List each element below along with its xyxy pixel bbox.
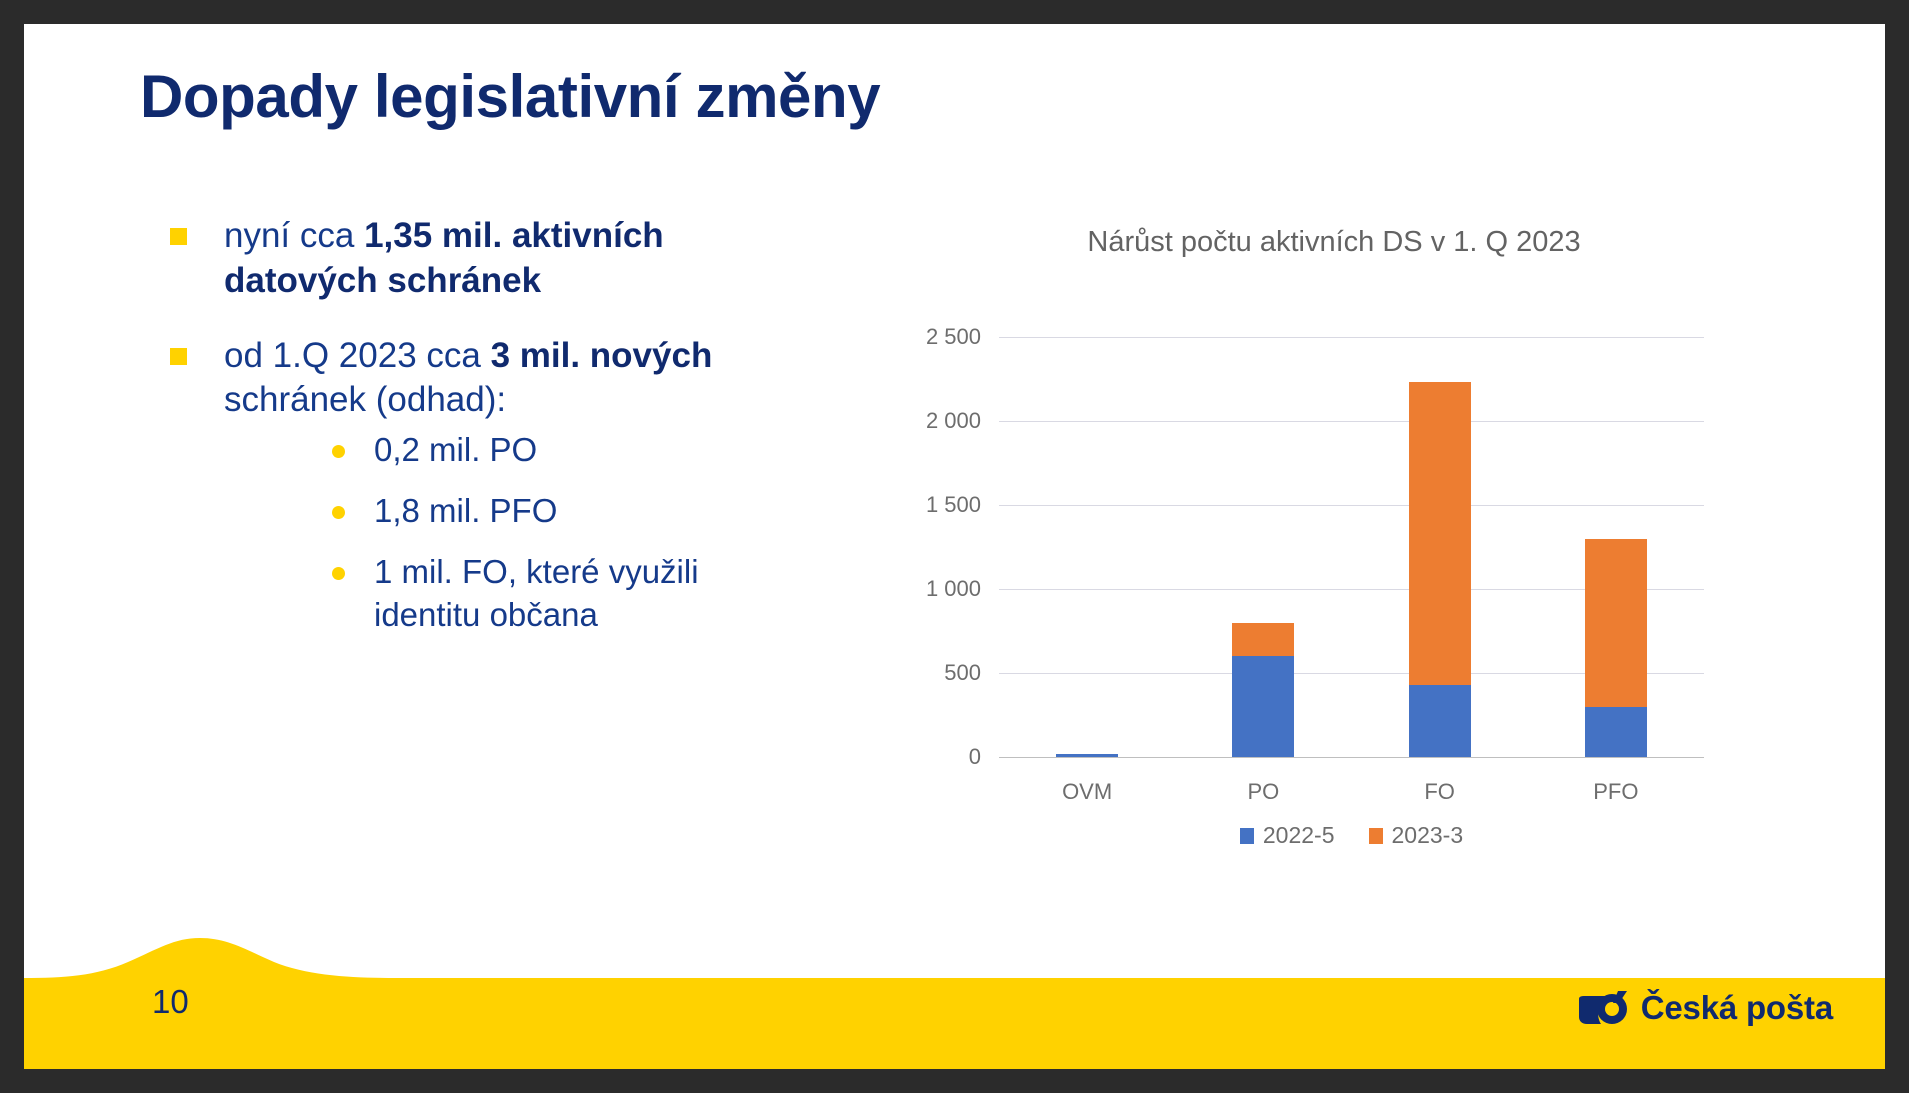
y-axis-tick-label: 1 500: [926, 492, 981, 518]
y-axis-tick-label: 2 000: [926, 408, 981, 434]
chart-bar[interactable]: PO: [1232, 623, 1294, 757]
bullet-list: nyní cca 1,35 mil. aktivních datových sc…: [142, 214, 762, 667]
bullet-text-post: schránek (odhad):: [224, 380, 506, 419]
list-item: 1,8 mil. PFO: [224, 490, 762, 533]
y-axis-tick-label: 2 500: [926, 324, 981, 350]
bullet-text-pre: nyní cca: [224, 216, 364, 255]
page-number: 10: [152, 983, 189, 1021]
slide-footer: 10 Česká pošta: [24, 934, 1885, 1069]
chart-title: Nárůst počtu aktivních DS v 1. Q 2023: [854, 226, 1814, 259]
list-item: 1 mil. FO, které využili identitu občana: [224, 551, 762, 637]
legend-swatch-icon: [1369, 828, 1383, 844]
list-item: 0,2 mil. PO: [224, 429, 762, 472]
chart-bar-segment-2023-3: [1585, 539, 1647, 707]
chart-bar-segment-2023-3: [1232, 623, 1294, 656]
square-bullet-icon: [170, 348, 187, 365]
bullet-text-bold: 3 mil. nových: [491, 336, 713, 375]
x-axis-tick-label: FO: [1409, 779, 1471, 805]
y-axis-tick-label: 0: [969, 744, 981, 770]
chart-gridline: 0: [999, 757, 1704, 758]
chart-gridline: 1 500: [999, 505, 1704, 506]
chart-bar-segment-2022-5: [1232, 656, 1294, 757]
brand-logo: Česká pošta: [1577, 989, 1833, 1027]
x-axis-tick-label: PO: [1232, 779, 1294, 805]
ceska-posta-logo-icon: [1577, 991, 1629, 1025]
dot-bullet-icon: [332, 567, 345, 580]
square-bullet-icon: [170, 228, 187, 245]
legend-label: 2023-3: [1392, 822, 1464, 849]
chart-bar[interactable]: PFO: [1585, 539, 1647, 757]
chart-bar-segment-2022-5: [1409, 685, 1471, 757]
chart: Nárůst počtu aktivních DS v 1. Q 2023 05…: [854, 202, 1814, 862]
dot-bullet-icon: [332, 445, 345, 458]
chart-legend-item[interactable]: 2022-5: [1240, 822, 1335, 849]
slide-background: Dopady legislativní změny nyní cca 1,35 …: [0, 0, 1909, 1093]
sub-bullet-label: 1 mil. FO, které využili identitu občana: [374, 553, 699, 633]
bullet-text-pre: od 1.Q 2023 cca: [224, 336, 491, 375]
chart-legend-item[interactable]: 2023-3: [1369, 822, 1464, 849]
list-item: nyní cca 1,35 mil. aktivních datových sc…: [142, 214, 762, 304]
x-axis-tick-label: PFO: [1585, 779, 1647, 805]
chart-bar-segment-2023-3: [1409, 382, 1471, 684]
chart-gridline: 2 000: [999, 421, 1704, 422]
chart-bar-segment-2022-5: [1056, 754, 1118, 757]
sub-bullet-label: 0,2 mil. PO: [374, 431, 537, 468]
sub-bullet-list: 0,2 mil. PO 1,8 mil. PFO 1 mil. FO, kter…: [224, 429, 762, 637]
page-title: Dopady legislativní změny: [140, 62, 880, 131]
sub-bullet-label: 1,8 mil. PFO: [374, 492, 557, 529]
list-item: od 1.Q 2023 cca 3 mil. nových schránek (…: [142, 334, 762, 637]
chart-bar[interactable]: OVM: [1056, 754, 1118, 757]
dot-bullet-icon: [332, 506, 345, 519]
legend-label: 2022-5: [1263, 822, 1335, 849]
chart-bar-segment-2022-5: [1585, 707, 1647, 757]
x-axis-tick-label: OVM: [1056, 779, 1118, 805]
legend-swatch-icon: [1240, 828, 1254, 844]
chart-bar[interactable]: FO: [1409, 382, 1471, 757]
chart-legend: 2022-52023-3: [999, 822, 1704, 849]
chart-gridline: 2 500: [999, 337, 1704, 338]
y-axis-tick-label: 1 000: [926, 576, 981, 602]
slide-canvas: Dopady legislativní změny nyní cca 1,35 …: [24, 24, 1885, 1069]
y-axis-tick-label: 500: [944, 660, 981, 686]
brand-name: Česká pošta: [1641, 989, 1833, 1027]
chart-plot-area: 05001 0001 5002 0002 500OVMPOFOPFO: [999, 337, 1704, 757]
